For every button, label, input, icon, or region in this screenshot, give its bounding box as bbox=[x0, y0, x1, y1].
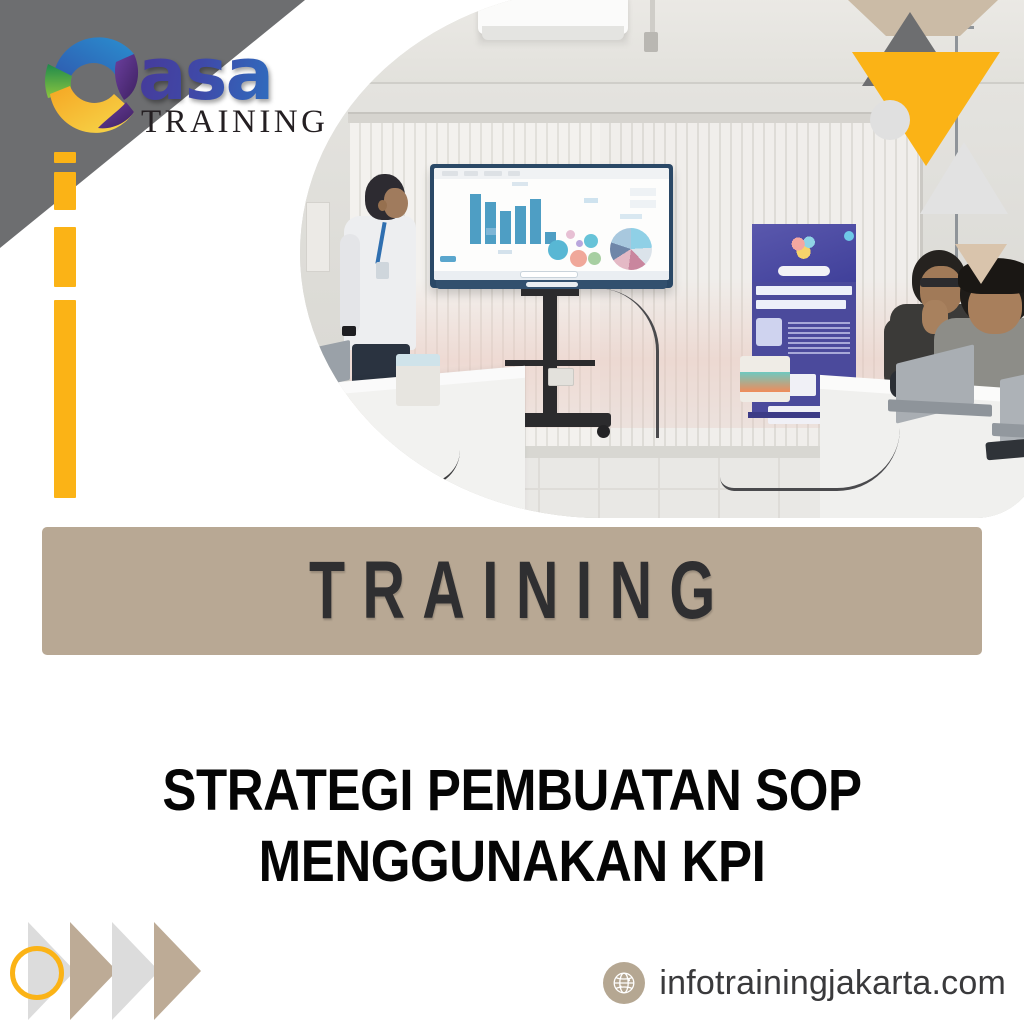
chevron-2-icon bbox=[70, 922, 117, 1020]
stand-post bbox=[543, 289, 557, 417]
stand-shelf bbox=[505, 360, 595, 366]
presenter-face bbox=[384, 188, 408, 218]
dashboard-widget bbox=[620, 214, 642, 219]
screen-control-strip bbox=[526, 282, 578, 287]
chevron-3-icon bbox=[112, 922, 159, 1020]
headline-line-2: MENGGUNAKAN KPI bbox=[61, 827, 962, 898]
bubble bbox=[548, 240, 568, 260]
phone bbox=[985, 438, 1024, 461]
dashboard-widget bbox=[584, 198, 598, 203]
tan-down-triangle-icon bbox=[955, 244, 1007, 284]
dashboard-tab bbox=[508, 171, 520, 176]
training-band: TRAINING bbox=[42, 527, 982, 655]
bubble bbox=[566, 230, 575, 239]
blind-rail bbox=[348, 112, 920, 123]
chart-axis-label bbox=[498, 250, 512, 254]
bar bbox=[515, 206, 526, 244]
white-circle-icon bbox=[870, 100, 910, 140]
presenter-badge bbox=[376, 262, 389, 279]
poster-canvas: asa TRAINING TRAINING STRATEGI PEMBUATAN… bbox=[0, 0, 1024, 1024]
bubble bbox=[576, 240, 583, 247]
globe-icon bbox=[603, 962, 645, 1004]
tissue-box bbox=[396, 360, 440, 406]
chart-kpi-chip bbox=[486, 228, 496, 235]
pie-slices bbox=[610, 228, 652, 270]
orange-accent-bar-3 bbox=[54, 227, 76, 287]
brand-wordmark: asa TRAINING bbox=[138, 44, 368, 141]
bubble bbox=[584, 234, 598, 248]
white-up-triangle-icon bbox=[920, 142, 1008, 214]
door-frame bbox=[306, 202, 330, 272]
bubble bbox=[570, 250, 587, 267]
wall-outlet bbox=[548, 368, 574, 386]
banner-title-line-2 bbox=[756, 300, 846, 309]
banner-number-01 bbox=[756, 318, 782, 346]
dashboard-tab bbox=[464, 171, 478, 176]
chart-title-placeholder bbox=[512, 182, 528, 186]
dashboard-widget bbox=[630, 188, 656, 196]
presenter-arm bbox=[340, 234, 360, 334]
bubble-chart bbox=[544, 226, 608, 270]
screen-search-pill bbox=[520, 271, 578, 278]
bar bbox=[485, 202, 496, 244]
banner-dots-icon bbox=[844, 231, 854, 241]
orange-ring-icon bbox=[10, 946, 64, 1000]
chevron-4-icon bbox=[154, 922, 201, 1020]
bubble bbox=[588, 252, 601, 265]
banner-title-line-1 bbox=[756, 286, 852, 295]
presenter-watch bbox=[342, 326, 356, 336]
presenter-ear bbox=[378, 200, 387, 211]
cable bbox=[340, 450, 460, 487]
banner-pill bbox=[778, 266, 830, 276]
banner-body-text bbox=[788, 322, 850, 354]
banner-illustration bbox=[788, 232, 822, 262]
orange-accent-bar-1 bbox=[54, 152, 76, 163]
page-title: STRATEGI PEMBUATAN SOP MENGGUNAKAN KPI bbox=[0, 756, 1024, 898]
presentation-screen bbox=[434, 168, 669, 280]
bar bbox=[500, 211, 511, 244]
orange-accent-bar-2 bbox=[54, 172, 76, 210]
brand-name-primary: asa bbox=[138, 44, 368, 106]
dashboard-button bbox=[440, 256, 456, 262]
bar bbox=[470, 194, 481, 244]
bar-chart bbox=[470, 192, 546, 244]
orange-accent-bar-4 bbox=[54, 300, 76, 498]
air-conditioner-vent bbox=[482, 26, 624, 40]
bar bbox=[530, 199, 541, 244]
tissue-box-top bbox=[396, 354, 440, 366]
globe-glyph bbox=[610, 969, 638, 997]
ac-knob bbox=[644, 32, 658, 52]
brand-logo[interactable]: asa TRAINING bbox=[34, 16, 334, 166]
dashboard-widget bbox=[630, 200, 656, 208]
dashboard-tab bbox=[442, 171, 458, 176]
dashboard-tab bbox=[484, 171, 502, 176]
pie-chart bbox=[610, 228, 652, 270]
website-footer[interactable]: infotrainingjakarta.com bbox=[603, 962, 1006, 1004]
website-url[interactable]: infotrainingjakarta.com bbox=[659, 964, 1006, 1003]
headline-line-1: STRATEGI PEMBUATAN SOP bbox=[61, 756, 962, 827]
training-band-label: TRAINING bbox=[292, 544, 733, 638]
tissue-box-band bbox=[740, 372, 790, 392]
